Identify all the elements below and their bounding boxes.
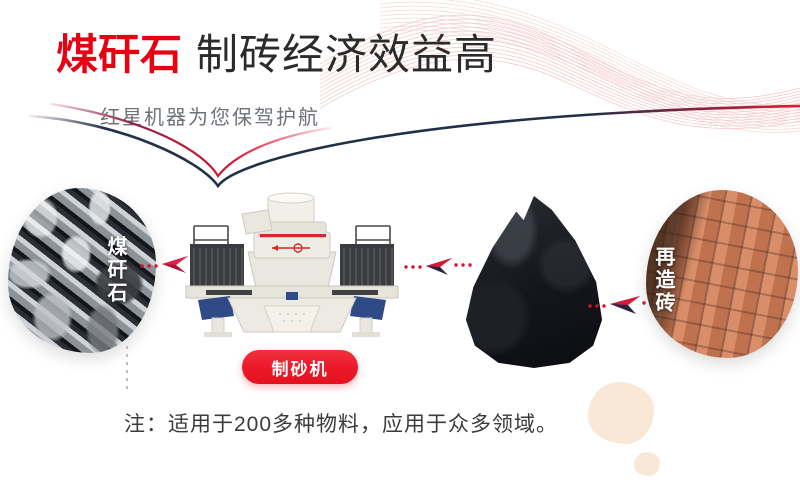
headline-rest: 制砖经济效益高 [196,31,497,78]
decorative-blob-large [588,382,654,444]
footnote-text: 注：适用于200多种物料，应用于众多领域。 [124,408,558,438]
promo-banner: 煤矸石制砖经济效益高 红星机器为您保驾护航 [0,0,800,490]
stage-raw-material [8,188,156,353]
stage-crushed-material [460,196,608,368]
coal-gangue-rocks-image [8,188,156,353]
dotted-connector [126,346,128,392]
stage-label-finished-product: 再造砖 [652,246,673,315]
banner-subtitle: 红星机器为您保驾护航 [100,101,320,130]
headline-highlight: 煤矸石 [56,31,182,78]
stage-label-raw-material: 煤矸石 [104,236,125,305]
banner-headline: 煤矸石制砖经济效益高 [56,34,497,76]
decorative-blob-small [634,452,660,476]
stage-machine [176,192,408,340]
machine-name-button[interactable]: 制砂机 [242,350,358,384]
rock-texture [8,188,156,353]
crushed-black-material-image [460,196,608,368]
coal-texture [460,196,608,368]
sand-making-machine-image [176,192,408,340]
